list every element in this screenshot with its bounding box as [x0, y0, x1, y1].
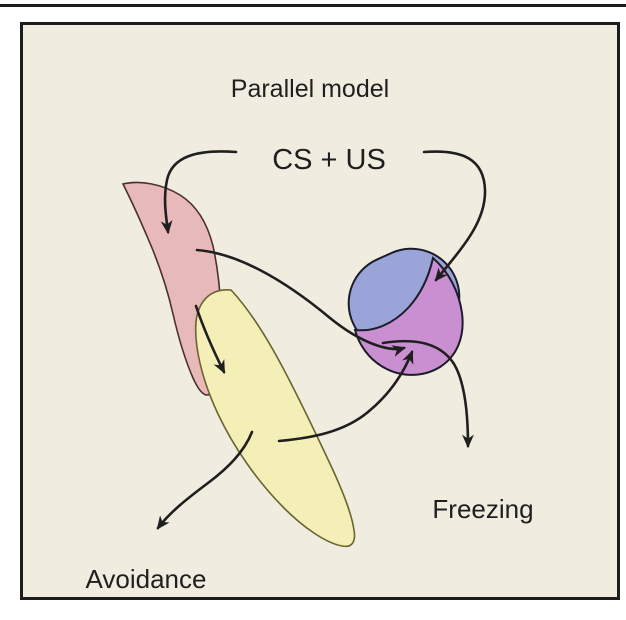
output-label-freezing: Freezing — [432, 494, 533, 524]
output-label-avoidance: Avoidance — [86, 564, 207, 594]
diagram-title: Parallel model — [231, 75, 389, 103]
parallel-model-diagram: Parallel model CS + US Avoidance Freezin… — [0, 0, 626, 620]
stimulus-label: CS + US — [272, 144, 386, 176]
yellow-brain-region — [196, 290, 355, 547]
figure-canvas: Parallel model CS + US Avoidance Freezin… — [0, 0, 626, 620]
region-shapes — [123, 182, 475, 546]
